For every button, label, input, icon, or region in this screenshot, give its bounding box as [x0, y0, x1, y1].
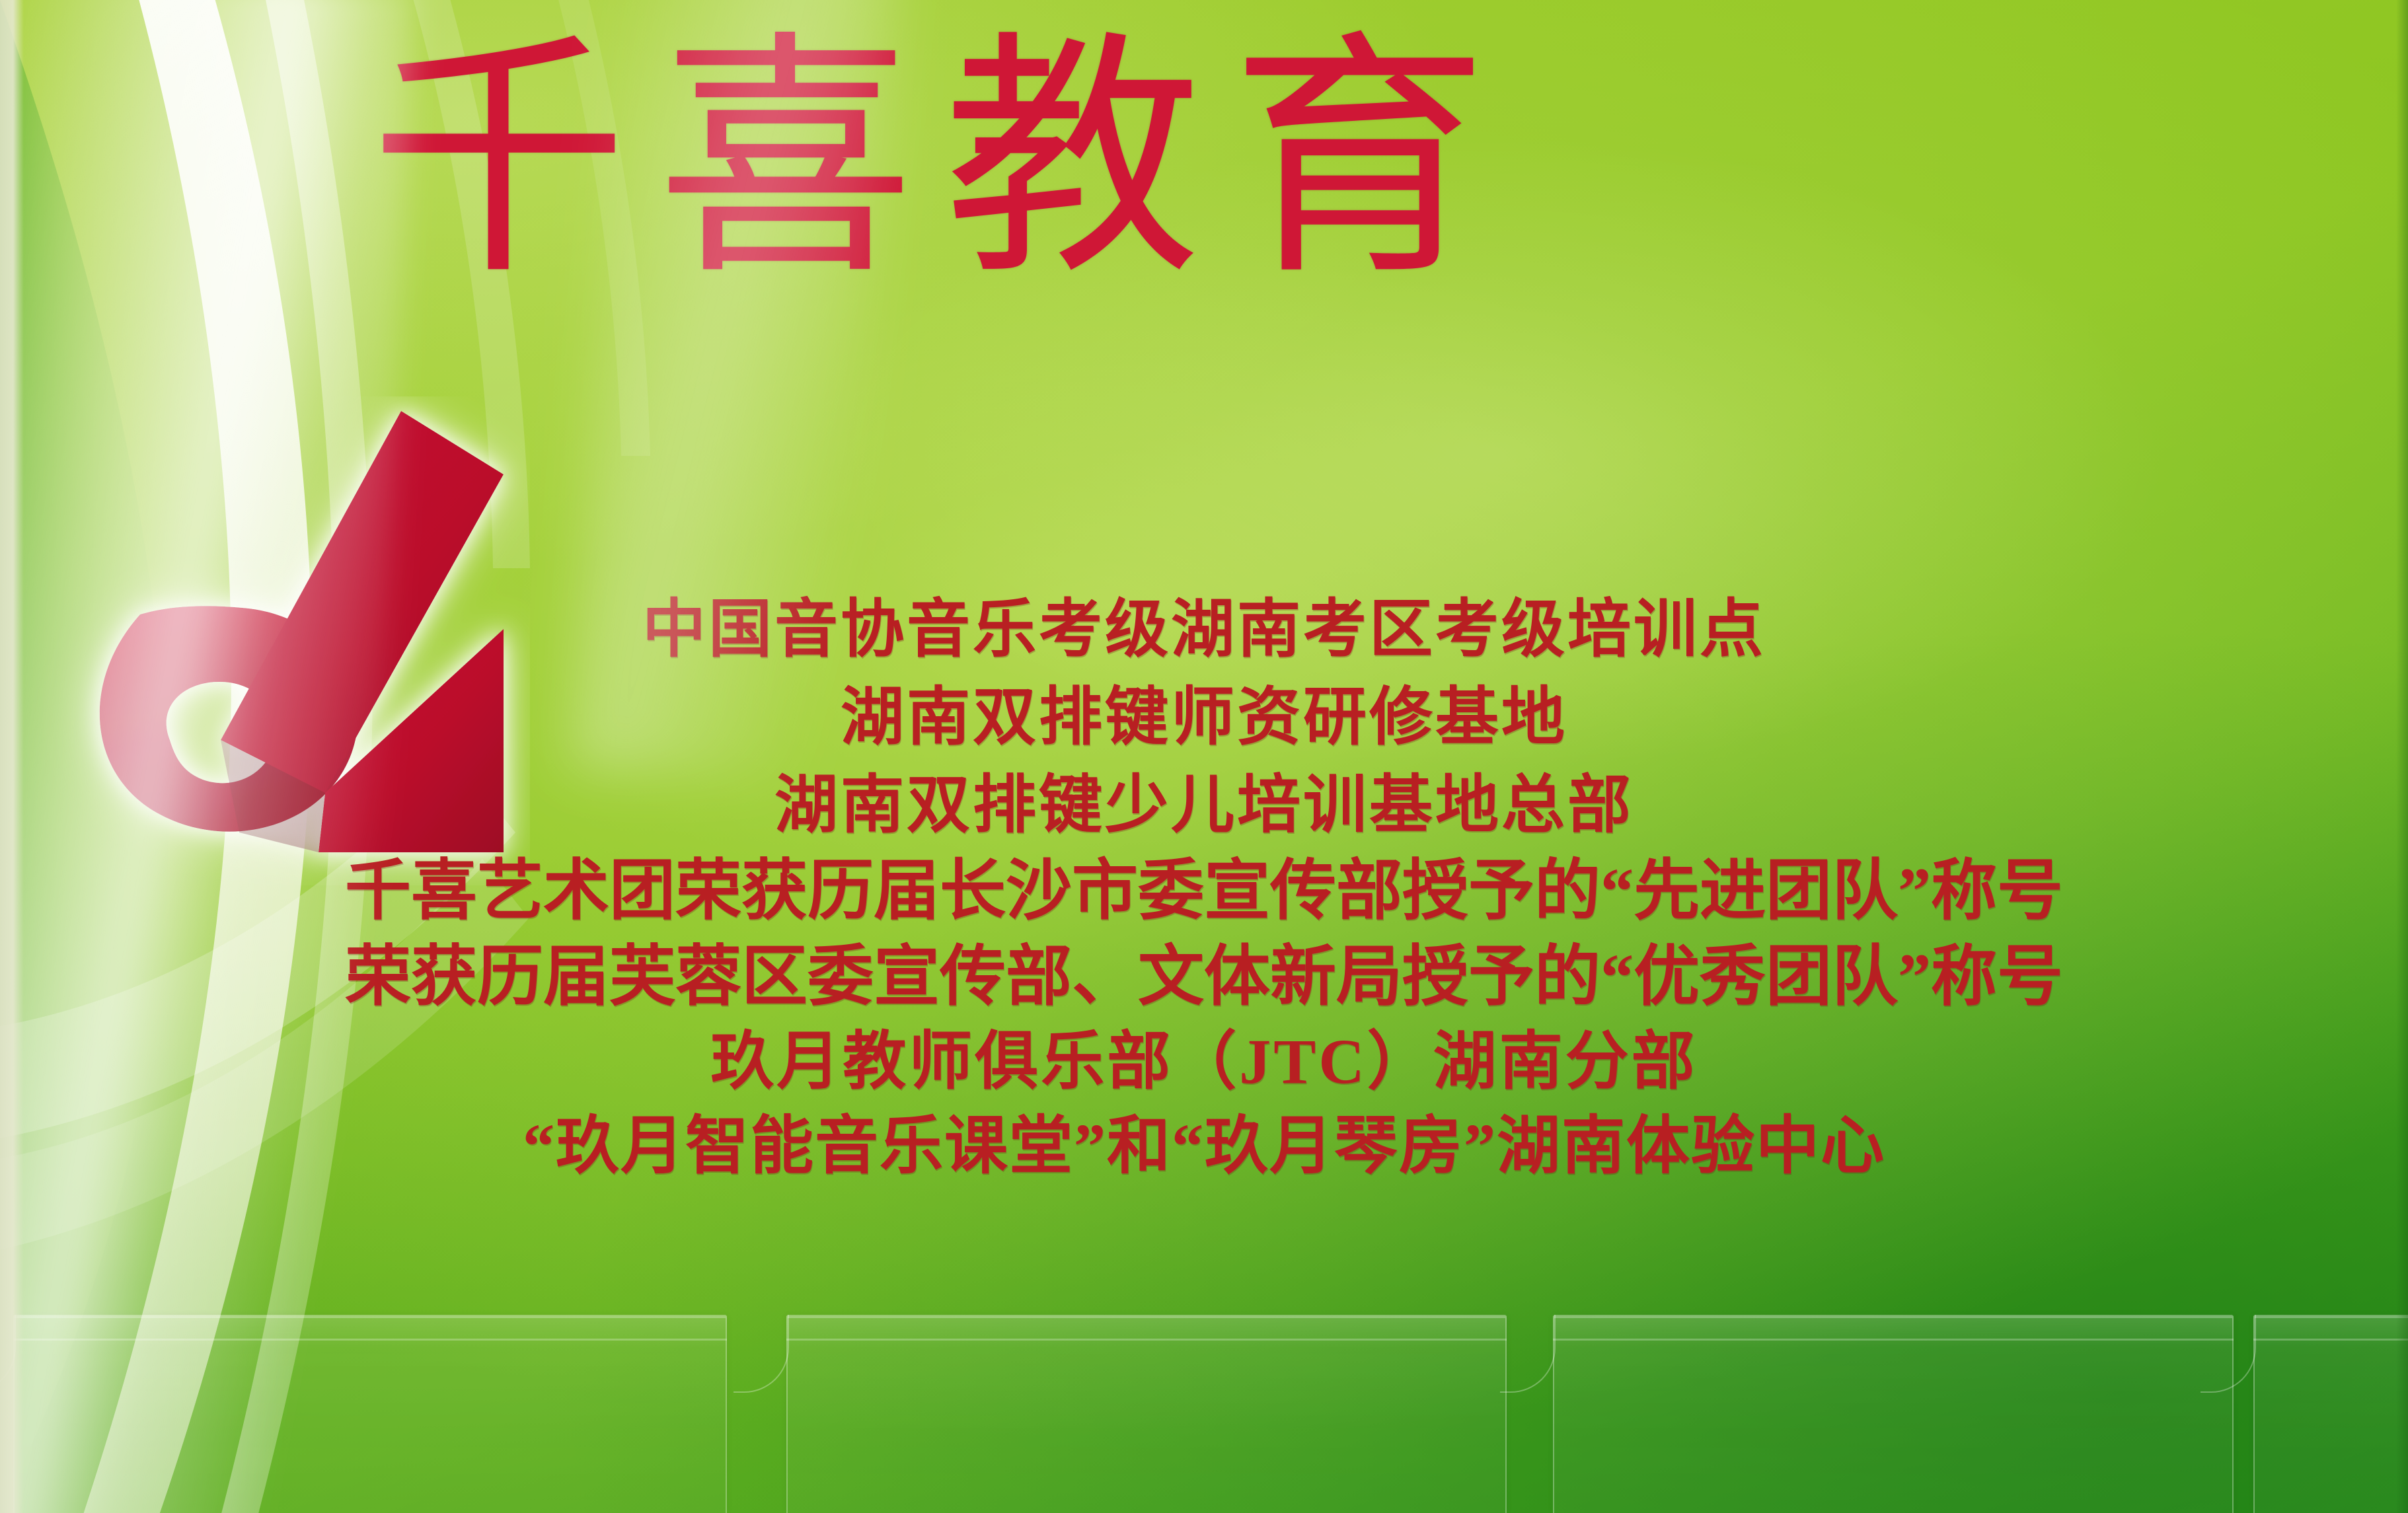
- brochure-holder[interactable]: [2253, 1315, 2408, 1513]
- brochure-holder[interactable]: [13, 1315, 727, 1513]
- credential-line: 中国音协音乐考级湖南考区考级培训点: [0, 598, 2408, 661]
- brochure-holder[interactable]: [1553, 1315, 2234, 1513]
- credential-line: “玖月智能音乐课堂”和“玖月琴房”湖南体验中心: [0, 1115, 2408, 1178]
- right-edge-shadow: [2396, 0, 2408, 1513]
- credential-line: 千喜艺术团荣获历届长沙市委宣传部授予的“先进团队”称号: [0, 858, 2408, 924]
- brochure-holder-row: [0, 1295, 2408, 1513]
- holder-notch: [1500, 1315, 1556, 1393]
- brochure-holder[interactable]: [786, 1315, 1507, 1513]
- signboard-photo: 千喜教育 中国音协音乐考级湖南考区考级培训点 湖南双排键师资研修基地 湖南双排键…: [0, 0, 2408, 1513]
- page-title: 千喜教育: [370, 40, 2035, 285]
- left-wall-edge: [0, 0, 24, 1513]
- holder-notch: [734, 1315, 789, 1393]
- credential-line: 玖月教师俱乐部（JTC）湖南分部: [0, 1030, 2408, 1093]
- credential-line: 荣获历届芙蓉区委宣传部、文体新局授予的“优秀团队”称号: [0, 944, 2408, 1010]
- credential-line: 湖南双排键少儿培训基地总部: [0, 774, 2408, 837]
- credential-list: 中国音协音乐考级湖南考区考级培训点 湖南双排键师资研修基地 湖南双排键少儿培训基…: [0, 598, 2408, 1178]
- credential-line: 湖南双排键师资研修基地: [0, 686, 2408, 749]
- holder-notch: [2201, 1315, 2256, 1393]
